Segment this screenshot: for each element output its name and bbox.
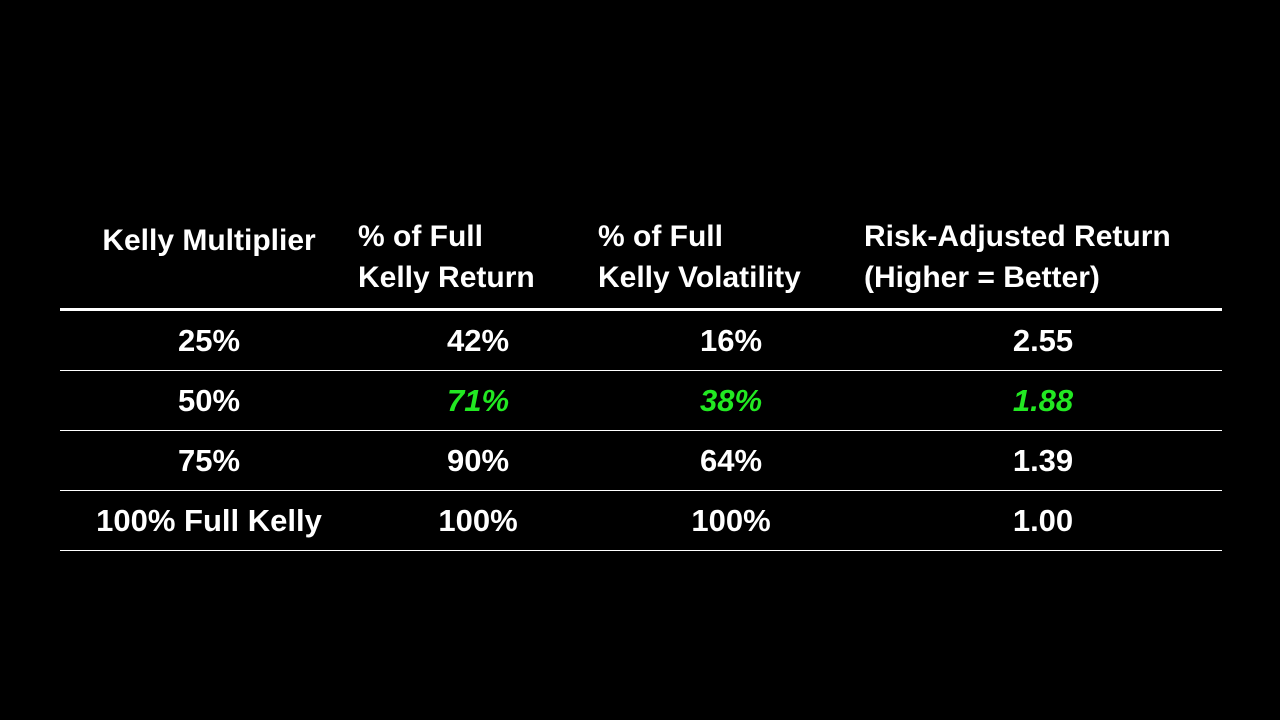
cell-kelly-multiplier: 25% — [60, 310, 358, 371]
cell-kelly-return: 100% — [358, 491, 598, 551]
cell-kelly-return: 42% — [358, 310, 598, 371]
cell-kelly-multiplier: 50% — [60, 371, 358, 431]
cell-kelly-volatility: 38% — [598, 371, 864, 431]
cell-kelly-volatility: 64% — [598, 431, 864, 491]
slide-canvas: Kelly Multiplier % of Full Kelly Return … — [0, 0, 1280, 720]
cell-kelly-return: 90% — [358, 431, 598, 491]
table-body: 25% 42% 16% 2.55 50% 71% 38% 1.88 75% 90… — [60, 310, 1222, 551]
cell-kelly-volatility: 100% — [598, 491, 864, 551]
column-header-kelly-multiplier: Kelly Multiplier — [60, 186, 358, 310]
cell-risk-adjusted-return: 1.39 — [864, 431, 1222, 491]
cell-kelly-volatility: 16% — [598, 310, 864, 371]
header-line: Kelly Return — [358, 257, 598, 298]
table-row: 100% Full Kelly 100% 100% 1.00 — [60, 491, 1222, 551]
kelly-multiplier-table: Kelly Multiplier % of Full Kelly Return … — [60, 186, 1222, 551]
header-line: (Higher = Better) — [864, 257, 1222, 298]
cell-risk-adjusted-return: 2.55 — [864, 310, 1222, 371]
kelly-table-container: Kelly Multiplier % of Full Kelly Return … — [60, 186, 1222, 551]
table-header: Kelly Multiplier % of Full Kelly Return … — [60, 186, 1222, 310]
column-header-pct-full-kelly-volatility: % of Full Kelly Volatility — [598, 186, 864, 310]
header-line: Risk-Adjusted Return — [864, 216, 1222, 257]
table-row-highlighted: 50% 71% 38% 1.88 — [60, 371, 1222, 431]
table-row: 75% 90% 64% 1.39 — [60, 431, 1222, 491]
cell-kelly-return: 71% — [358, 371, 598, 431]
header-line: Kelly Multiplier — [60, 220, 358, 261]
column-header-pct-full-kelly-return: % of Full Kelly Return — [358, 186, 598, 310]
table-row: 25% 42% 16% 2.55 — [60, 310, 1222, 371]
header-line: Kelly Volatility — [598, 257, 864, 298]
column-header-risk-adjusted-return: Risk-Adjusted Return (Higher = Better) — [864, 186, 1222, 310]
header-line: % of Full — [358, 216, 598, 257]
header-row: Kelly Multiplier % of Full Kelly Return … — [60, 186, 1222, 310]
cell-risk-adjusted-return: 1.00 — [864, 491, 1222, 551]
header-line: % of Full — [598, 216, 864, 257]
cell-risk-adjusted-return: 1.88 — [864, 371, 1222, 431]
cell-kelly-multiplier: 75% — [60, 431, 358, 491]
cell-kelly-multiplier: 100% Full Kelly — [60, 491, 358, 551]
